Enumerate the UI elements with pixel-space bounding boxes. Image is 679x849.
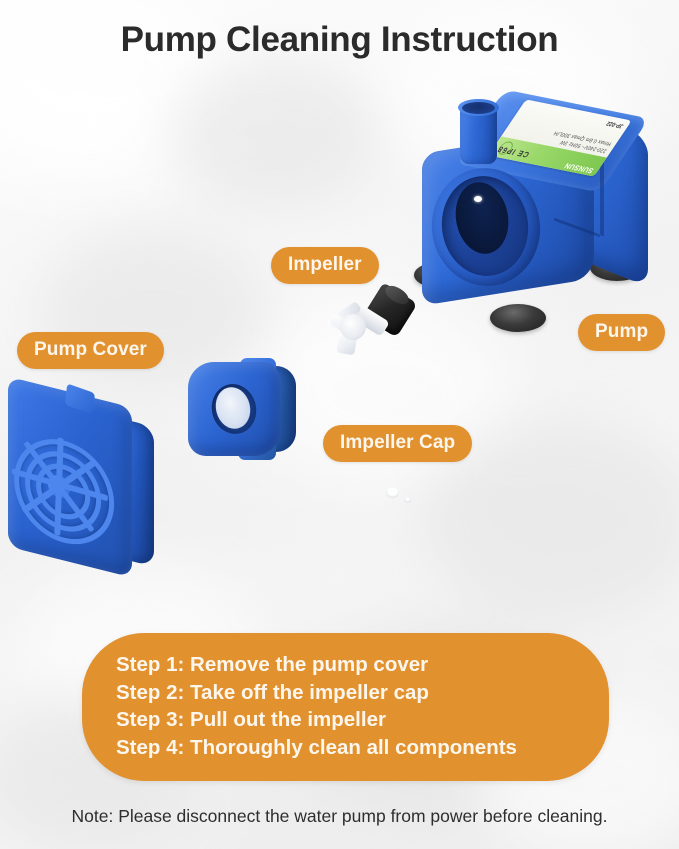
pump-outlet-opening xyxy=(462,102,495,114)
step-item: Step 3: Pull out the impeller xyxy=(116,706,609,734)
label-impeller: Impeller xyxy=(271,247,379,284)
step-item: Step 1: Remove the pump cover xyxy=(116,651,609,679)
label-impeller-cap: Impeller Cap xyxy=(323,425,472,462)
water-droplet xyxy=(404,497,411,503)
impeller-hub xyxy=(340,314,366,340)
label-pump: Pump xyxy=(578,314,665,351)
instruction-infographic: Pump Cleaning Instruction SUNSUN CE IP68… xyxy=(0,0,679,849)
steps-panel: Step 1: Remove the pump cover Step 2: Ta… xyxy=(82,633,609,781)
step-item: Step 4: Thoroughly clean all components xyxy=(116,734,609,762)
step-item: Step 2: Take off the impeller cap xyxy=(116,679,609,707)
pump-cover-illustration xyxy=(4,386,164,584)
label-model: JP-022 xyxy=(605,120,625,129)
label-pump-text: Pump xyxy=(595,321,648,342)
label-impeller-text: Impeller xyxy=(288,254,362,275)
page-title: Pump Cleaning Instruction xyxy=(0,20,679,60)
water-droplet xyxy=(386,487,399,498)
impeller-cap-illustration xyxy=(186,358,308,462)
cover-intake-grille xyxy=(12,430,109,547)
suction-cup xyxy=(490,304,546,332)
specular-highlight xyxy=(474,196,482,202)
pump-illustration: SUNSUN CE IP68 220-240V~ 50Hz 3W Hmax 0.… xyxy=(404,96,672,344)
label-impeller-cap-text: Impeller Cap xyxy=(340,432,455,453)
footer-note: Note: Please disconnect the water pump f… xyxy=(0,806,679,827)
label-pump-cover-text: Pump Cover xyxy=(34,339,147,360)
label-pump-cover: Pump Cover xyxy=(17,332,164,369)
impeller-illustration xyxy=(322,288,418,362)
